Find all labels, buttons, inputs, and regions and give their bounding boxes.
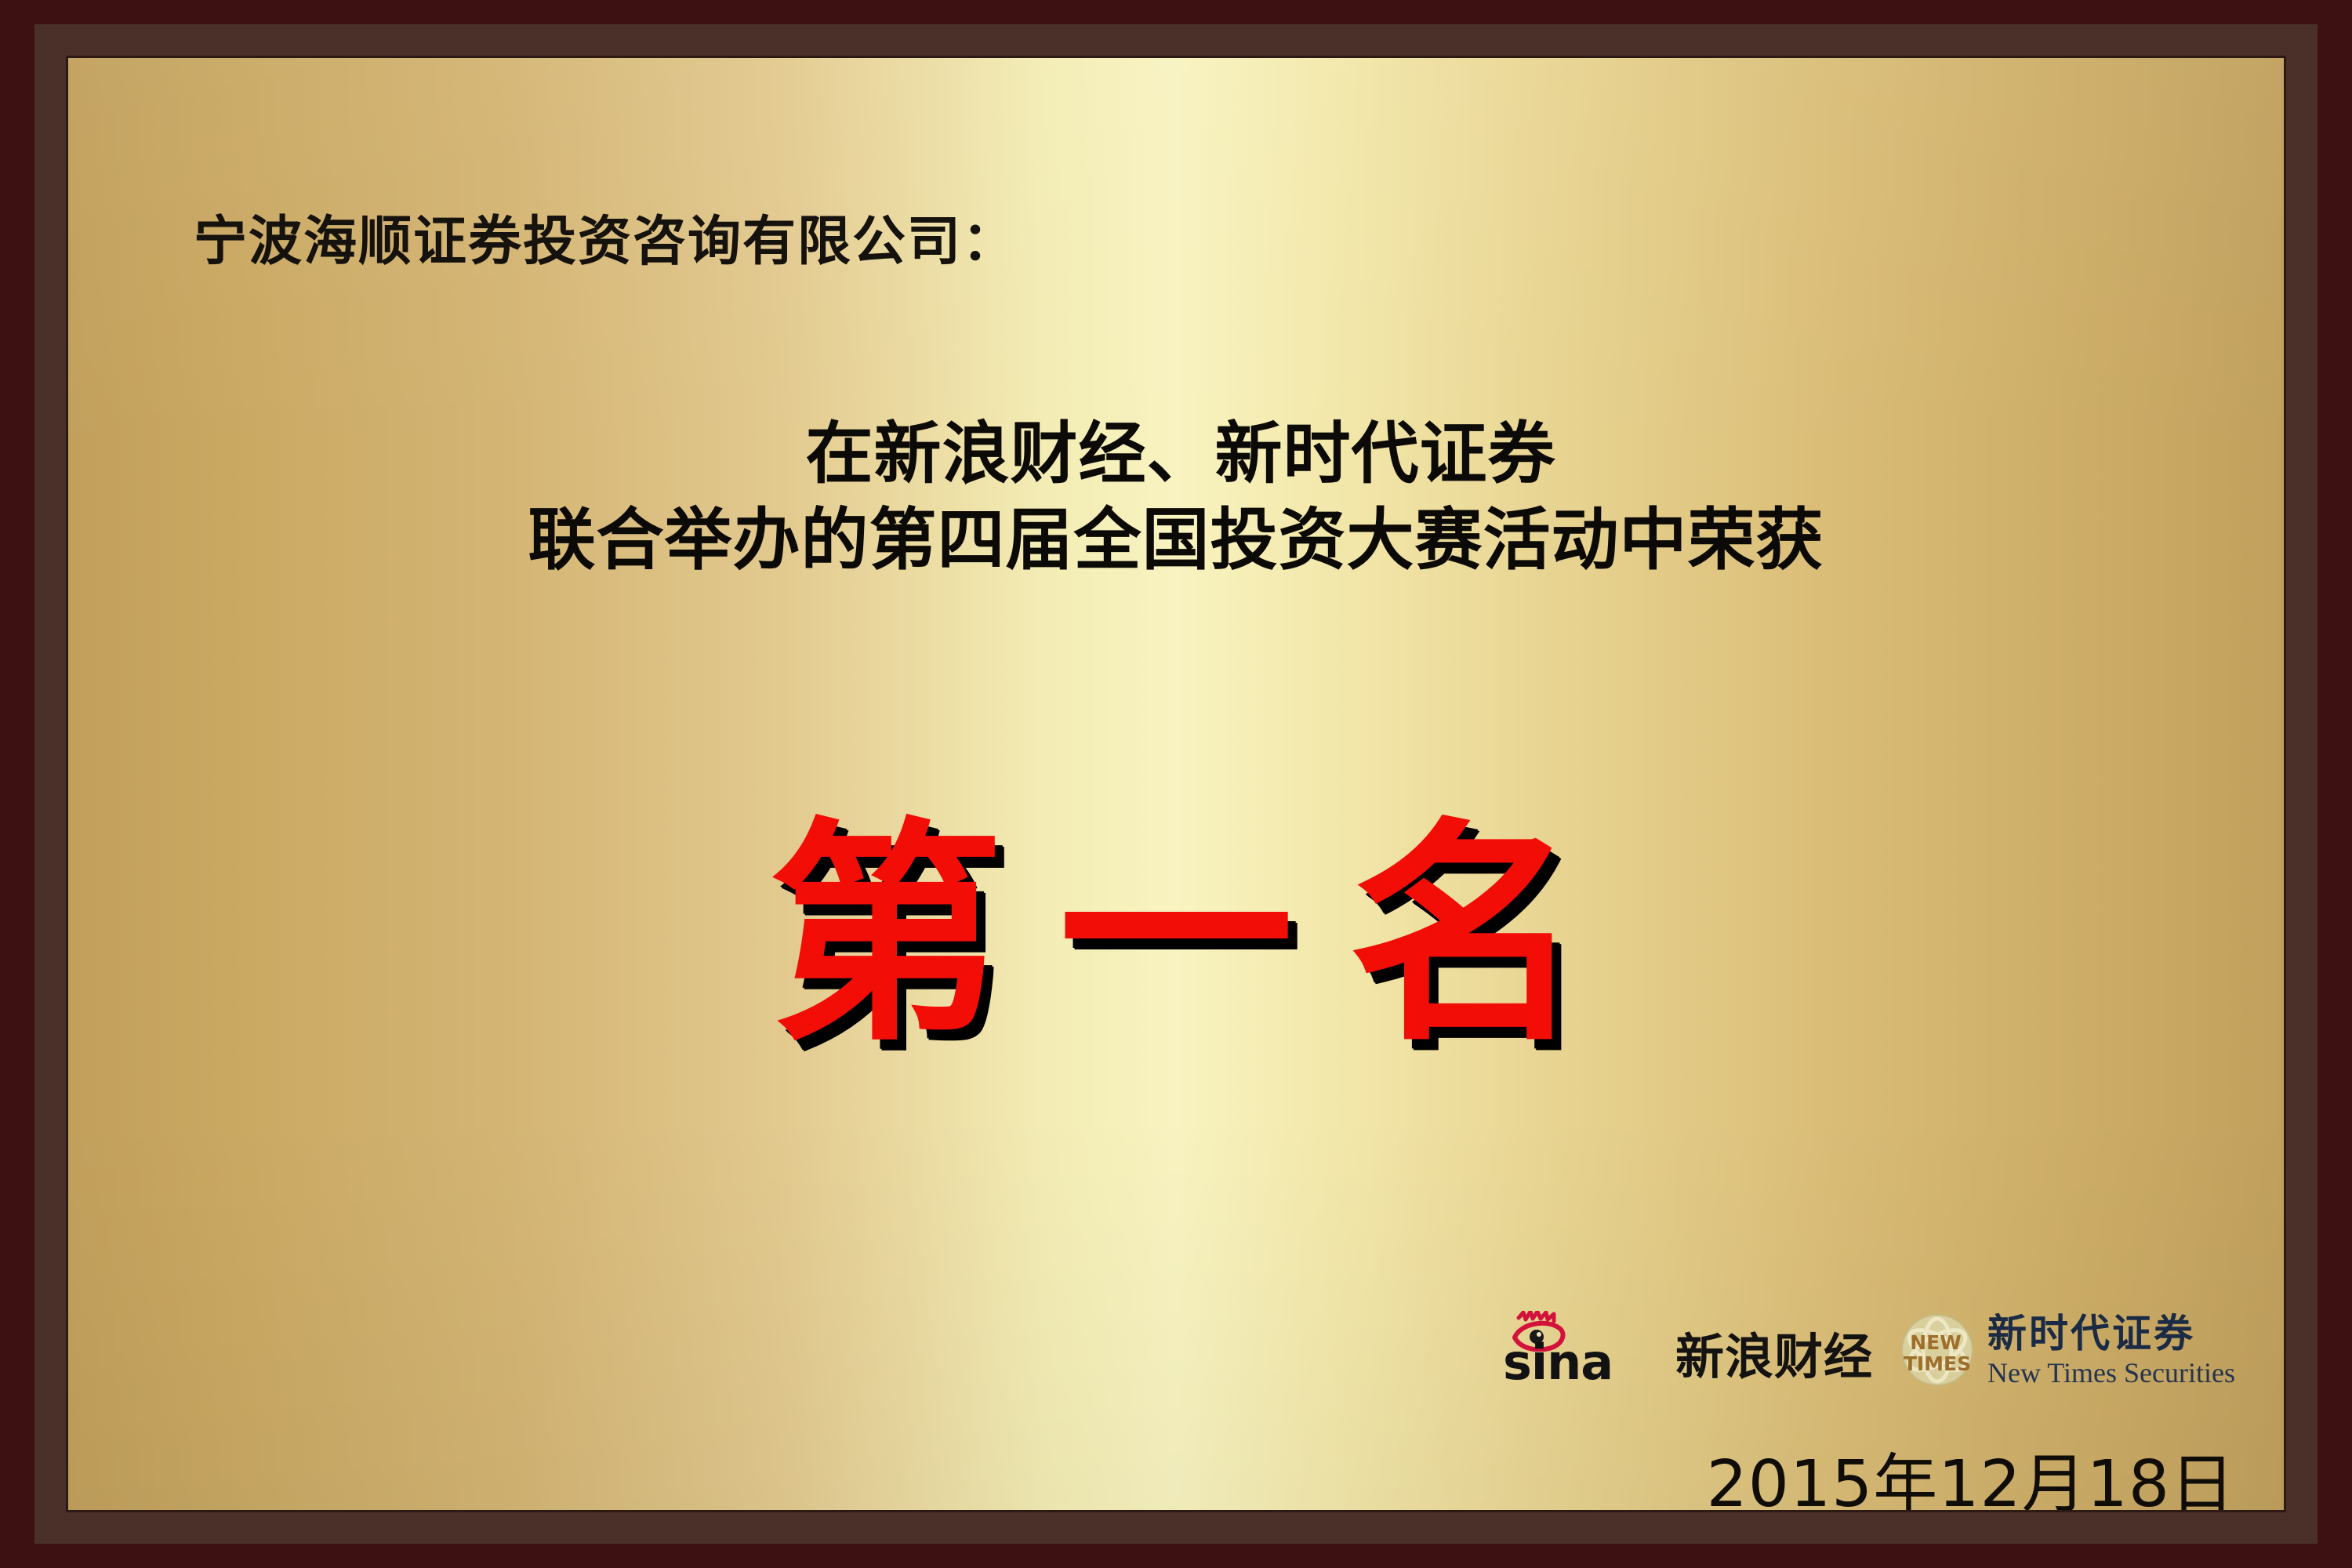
new-times-chinese-name: 新时代证券: [1987, 1312, 2235, 1355]
addressee-line: 宁波海顺证券投资咨询有限公司：: [194, 198, 1017, 275]
sina-chinese-name: 新浪财经: [1675, 1317, 1873, 1392]
sina-wordmark-text: sina: [1503, 1334, 1613, 1391]
new-times-english-name: New Times Securities: [1987, 1358, 2235, 1388]
award-rank-text: 第一名: [68, 803, 2284, 1066]
sponsor-logo-row: sina 新浪财经 NE: [1503, 1306, 2235, 1394]
citation-line-1: 在新浪财经、新时代证券: [78, 411, 2284, 497]
new-times-name-block: 新时代证券 New Times Securities: [1987, 1312, 2235, 1388]
citation-body: 在新浪财经、新时代证券 联合举办的第四届全国投资大赛活动中荣获: [68, 411, 2284, 583]
new-times-emblem-line1: NEW: [1910, 1331, 1962, 1354]
plaque-frame-inner-band: 宁波海顺证券投资咨询有限公司： 在新浪财经、新时代证券 联合举办的第四届全国投资…: [34, 24, 2318, 1544]
plaque-frame-outer: 宁波海顺证券投资咨询有限公司： 在新浪财经、新时代证券 联合举办的第四届全国投资…: [0, 0, 2352, 1568]
plaque-gold-plate: 宁波海顺证券投资咨询有限公司： 在新浪财经、新时代证券 联合举办的第四届全国投资…: [68, 58, 2284, 1510]
plaque-plate-bevel: 宁波海顺证券投资咨询有限公司： 在新浪财经、新时代证券 联合举办的第四届全国投资…: [66, 56, 2286, 1512]
sina-wordmark-group: sina: [1503, 1311, 1668, 1392]
new-times-emblem-icon: NEW TIMES: [1900, 1312, 1975, 1388]
citation-line-2: 联合举办的第四届全国投资大赛活动中荣获: [68, 497, 2284, 583]
award-date: 2015年12月18日: [1707, 1432, 2235, 1510]
new-times-securities-logo: NEW TIMES 新时代证券 New Times Securities: [1900, 1306, 2235, 1394]
sina-finance-logo: sina 新浪财经: [1503, 1308, 1873, 1392]
new-times-emblem-line2: TIMES: [1904, 1352, 1971, 1375]
